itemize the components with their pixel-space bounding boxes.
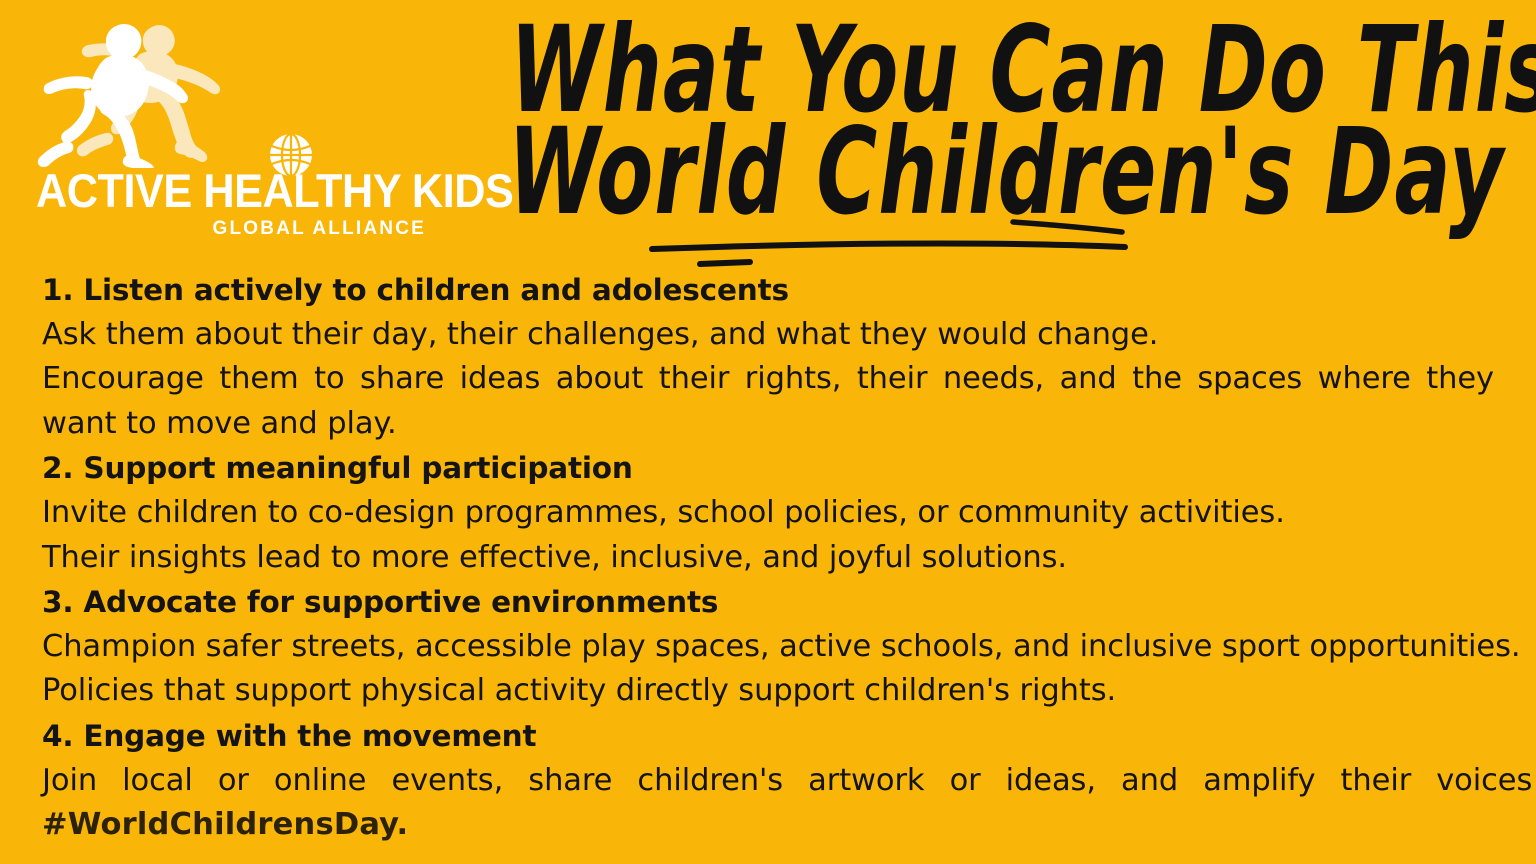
list-item-text: Champion safer streets, accessible play … bbox=[42, 625, 1497, 670]
hashtag-text: #WorldChildrensDay. bbox=[42, 803, 1497, 848]
list-item-text: Ask them about their day, their challeng… bbox=[42, 313, 1497, 358]
list-item-heading: 2. Support meaningful participation bbox=[42, 446, 1497, 491]
brand-logo: ACTIVE HEALTHY KIDS GLOBAL ALLIANCE bbox=[32, 8, 432, 246]
list-item-heading: 4. Engage with the movement bbox=[42, 714, 1497, 759]
list-item-text: Join local or online events, share child… bbox=[42, 759, 1497, 804]
content-list: 1. Listen actively to children and adole… bbox=[42, 268, 1497, 848]
logo-wordmark: ACTIVE HEALTHY KIDS bbox=[36, 166, 400, 216]
hand-drawn-underline bbox=[500, 202, 1380, 272]
list-item-text: Policies that support physical activity … bbox=[42, 669, 1497, 714]
running-children-icon bbox=[32, 8, 232, 168]
list-item-heading: 3. Advocate for supportive environments bbox=[42, 580, 1497, 625]
page-title: What You Can Do This World Children's Da… bbox=[500, 6, 1380, 268]
list-item-text: Encourage them to share ideas about thei… bbox=[42, 357, 1494, 446]
list-item-text: Invite children to co-design programmes,… bbox=[42, 491, 1497, 536]
logo-subwordmark: GLOBAL ALLIANCE bbox=[36, 218, 426, 240]
list-item-text: Their insights lead to more effective, i… bbox=[42, 536, 1497, 581]
list-item-heading: 1. Listen actively to children and adole… bbox=[42, 268, 1497, 313]
